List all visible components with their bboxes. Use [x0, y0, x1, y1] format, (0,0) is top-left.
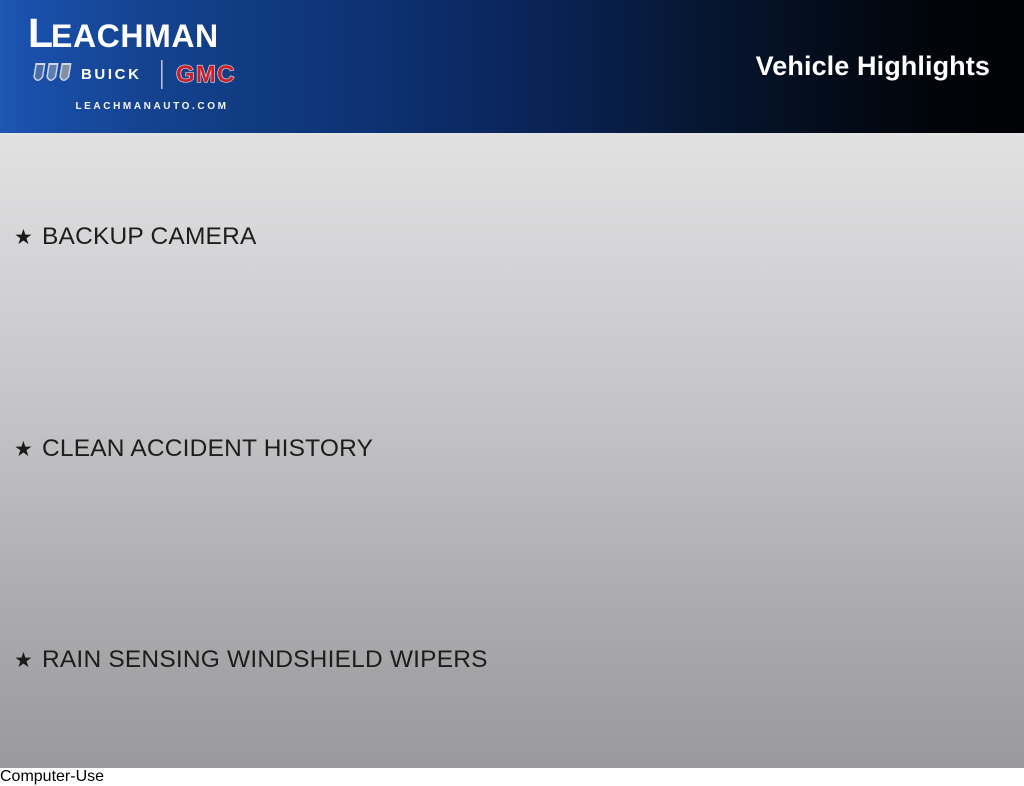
- vehicle-highlights-list: ★ BACKUP CAMERA ★ CLEAN ACCIDENT HISTORY…: [0, 133, 1024, 768]
- buick-trishield-icon: [33, 63, 72, 81]
- svg-text:L: L: [28, 12, 53, 56]
- highlight-item: ★ RAIN SENSING WINDSHIELD WIPERS: [14, 644, 488, 676]
- brand-divider: [161, 60, 163, 89]
- dealer-wordmark: L EACHMAN: [28, 12, 290, 56]
- star-icon: ★: [14, 433, 42, 465]
- header-banner: L EACHMAN: [0, 0, 1024, 133]
- svg-text:EACHMAN: EACHMAN: [51, 18, 219, 54]
- dealer-website[interactable]: LEACHMANAUTO.COM: [28, 100, 276, 113]
- vehicle-highlights-slide: L EACHMAN: [0, 0, 1024, 768]
- star-icon: ★: [14, 221, 42, 253]
- highlight-label: CLEAN ACCIDENT HISTORY: [42, 433, 373, 465]
- star-icon: ★: [14, 644, 42, 676]
- dealer-logo[interactable]: L EACHMAN: [0, 0, 300, 133]
- highlight-item: ★ BACKUP CAMERA: [14, 221, 257, 253]
- highlight-item: ★ CLEAN ACCIDENT HISTORY: [14, 433, 373, 465]
- svg-text:BUICK: BUICK: [81, 66, 142, 83]
- svg-text:GMC: GMC: [176, 61, 236, 88]
- brand-row: BUICK GMC: [30, 60, 288, 94]
- page-title: Vehicle Highlights: [756, 50, 990, 82]
- highlight-label: RAIN SENSING WINDSHIELD WIPERS: [42, 644, 488, 676]
- highlight-label: BACKUP CAMERA: [42, 221, 257, 253]
